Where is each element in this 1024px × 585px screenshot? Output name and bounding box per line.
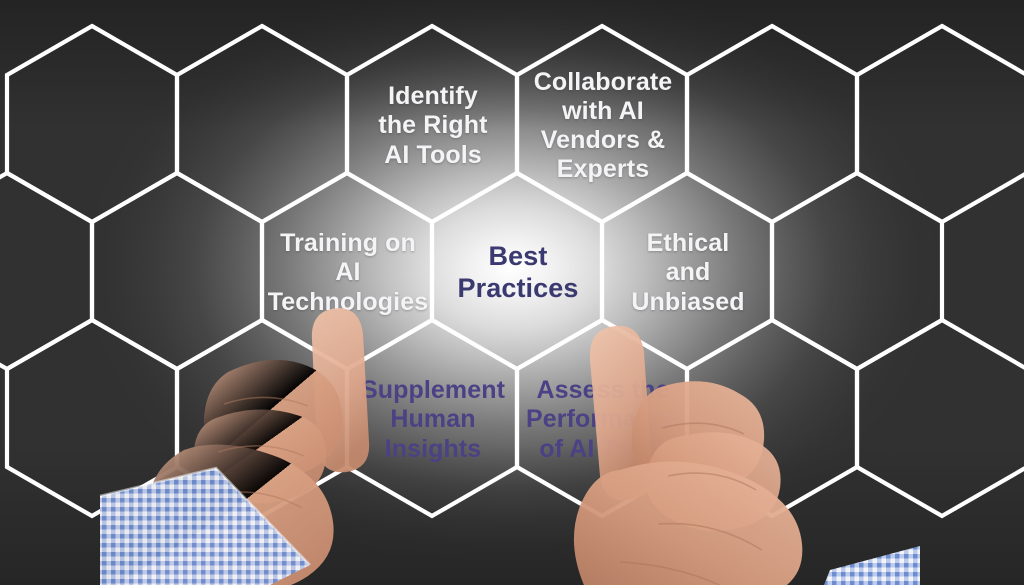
hexagon-cell[interactable] [7,26,177,222]
hexagon-cell[interactable] [432,173,602,369]
infographic-canvas: Identify the Right AI Tools Collaborate … [0,0,1024,585]
hexagon-cell[interactable] [772,173,942,369]
hexagon-cell[interactable] [857,26,1024,222]
hexagon-cell[interactable] [92,173,262,369]
hexagon-cell[interactable] [857,320,1024,516]
hexagon-cell[interactable] [517,26,687,222]
hexagon-cell[interactable] [517,320,687,516]
hexagon-cell[interactable] [177,26,347,222]
hexagon-cell[interactable] [602,173,772,369]
hexagon-grid [0,0,1024,585]
hexagon-cell[interactable] [687,320,857,516]
hexagon-cell[interactable] [347,320,517,516]
hexagon-cell[interactable] [262,173,432,369]
hexagon-cell[interactable] [0,173,92,369]
hexagon-cell[interactable] [347,26,517,222]
hexagon-cell[interactable] [177,320,347,516]
hexagon-cell[interactable] [7,320,177,516]
hexagon-cell[interactable] [687,26,857,222]
